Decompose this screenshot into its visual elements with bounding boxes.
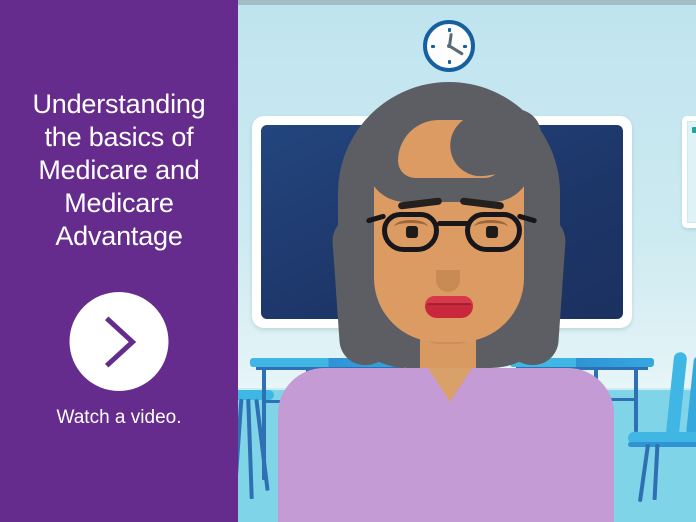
lip-line — [427, 303, 471, 305]
lower-lip — [425, 304, 473, 318]
classroom-illustration — [238, 0, 696, 522]
medicare-video-promo: Understanding the basics of Medicare and… — [0, 0, 696, 522]
person-illustration — [238, 0, 696, 522]
collar-v-neck — [428, 368, 472, 402]
eyeglass-lens-left — [382, 212, 439, 252]
eyeglasses-icon — [382, 208, 522, 254]
watch-video-button[interactable] — [70, 292, 169, 391]
eyeglass-bridge — [437, 221, 469, 226]
chevron-right-icon — [96, 314, 142, 370]
watch-video-label[interactable]: Watch a video. — [0, 406, 238, 430]
eyeglass-lens-right — [465, 212, 522, 252]
page-title: Understanding the basics of Medicare and… — [0, 88, 238, 253]
promo-text-panel: Understanding the basics of Medicare and… — [0, 0, 238, 522]
